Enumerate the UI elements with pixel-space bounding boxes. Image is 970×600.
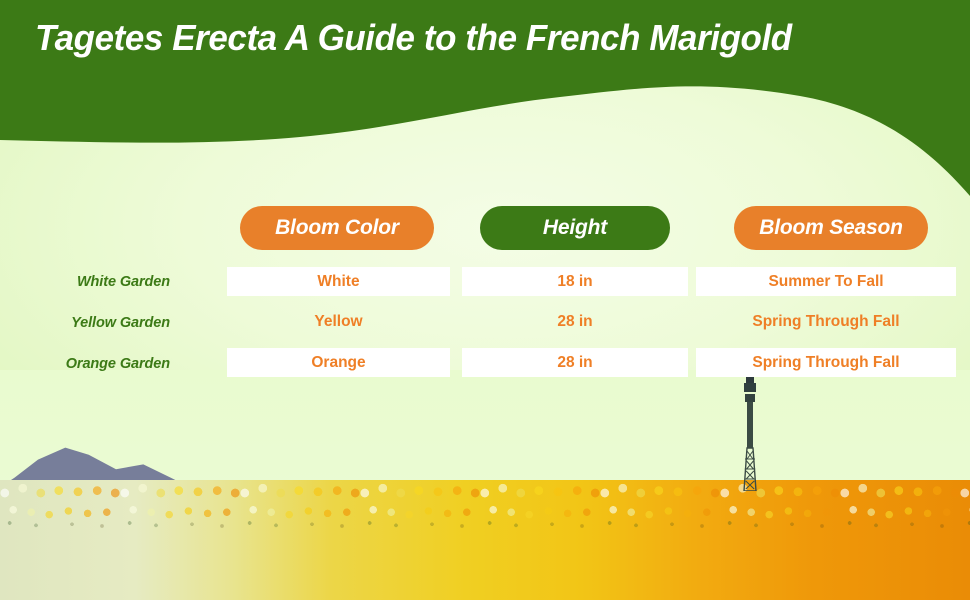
cell-yellow-garden-bloom-season: Spring Through Fall: [696, 307, 956, 336]
infographic-page: Tagetes Erecta A Guide to the French Mar…: [0, 0, 970, 600]
row-label-white-garden: White Garden: [0, 274, 170, 290]
cell-yellow-garden-bloom-color: Yellow: [227, 307, 450, 336]
cell-orange-garden-bloom-color: Orange: [227, 348, 450, 377]
column-header-bloom-season: Bloom Season: [734, 206, 928, 250]
row-label-yellow-garden: Yellow Garden: [0, 315, 170, 331]
cell-yellow-garden-height: 28 in: [462, 307, 688, 336]
cell-white-garden-bloom-season: Summer To Fall: [696, 267, 956, 296]
cell-orange-garden-height: 28 in: [462, 348, 688, 377]
row-label-orange-garden: Orange Garden: [0, 356, 170, 372]
cell-white-garden-bloom-color: White: [227, 267, 450, 296]
comparison-table: Bloom Color Height Bloom Season White Ga…: [0, 0, 970, 600]
cell-orange-garden-bloom-season: Spring Through Fall: [696, 348, 956, 377]
cell-white-garden-height: 18 in: [462, 267, 688, 296]
column-header-bloom-color: Bloom Color: [240, 206, 434, 250]
column-header-height: Height: [480, 206, 670, 250]
